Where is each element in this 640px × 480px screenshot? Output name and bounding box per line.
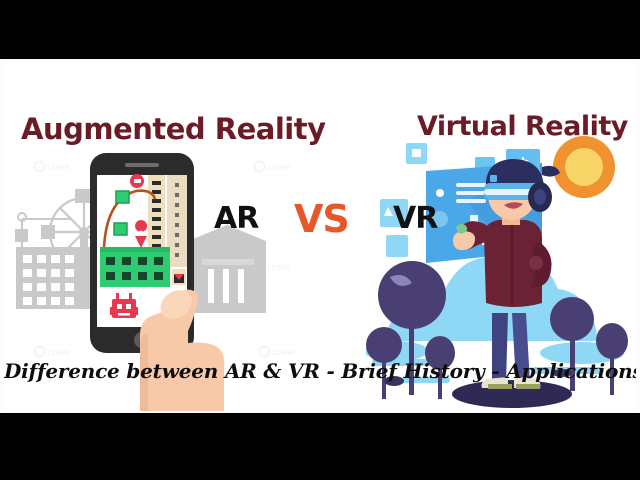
slide-stage: 123RF 123RF 123RF 123RF 123RF 123RF 123R… <box>0 0 640 480</box>
label-ar: AR <box>214 201 258 236</box>
sun-icon <box>553 136 615 198</box>
label-vs: VS <box>294 197 349 241</box>
page-title-virtual-reality: Virtual Reality <box>417 111 628 142</box>
page-title-augmented-reality: Augmented Reality <box>21 112 325 146</box>
caption-text: Difference between AR & VR - Brief Histo… <box>4 359 636 383</box>
slide-frame: 123RF 123RF 123RF 123RF 123RF 123RF 123R… <box>0 59 640 413</box>
letterbox-bar-top <box>0 0 640 59</box>
slide-content: 123RF 123RF 123RF 123RF 123RF 123RF 123R… <box>4 61 636 411</box>
label-vr: VR <box>393 201 437 236</box>
letterbox-bar-bottom <box>0 413 640 480</box>
